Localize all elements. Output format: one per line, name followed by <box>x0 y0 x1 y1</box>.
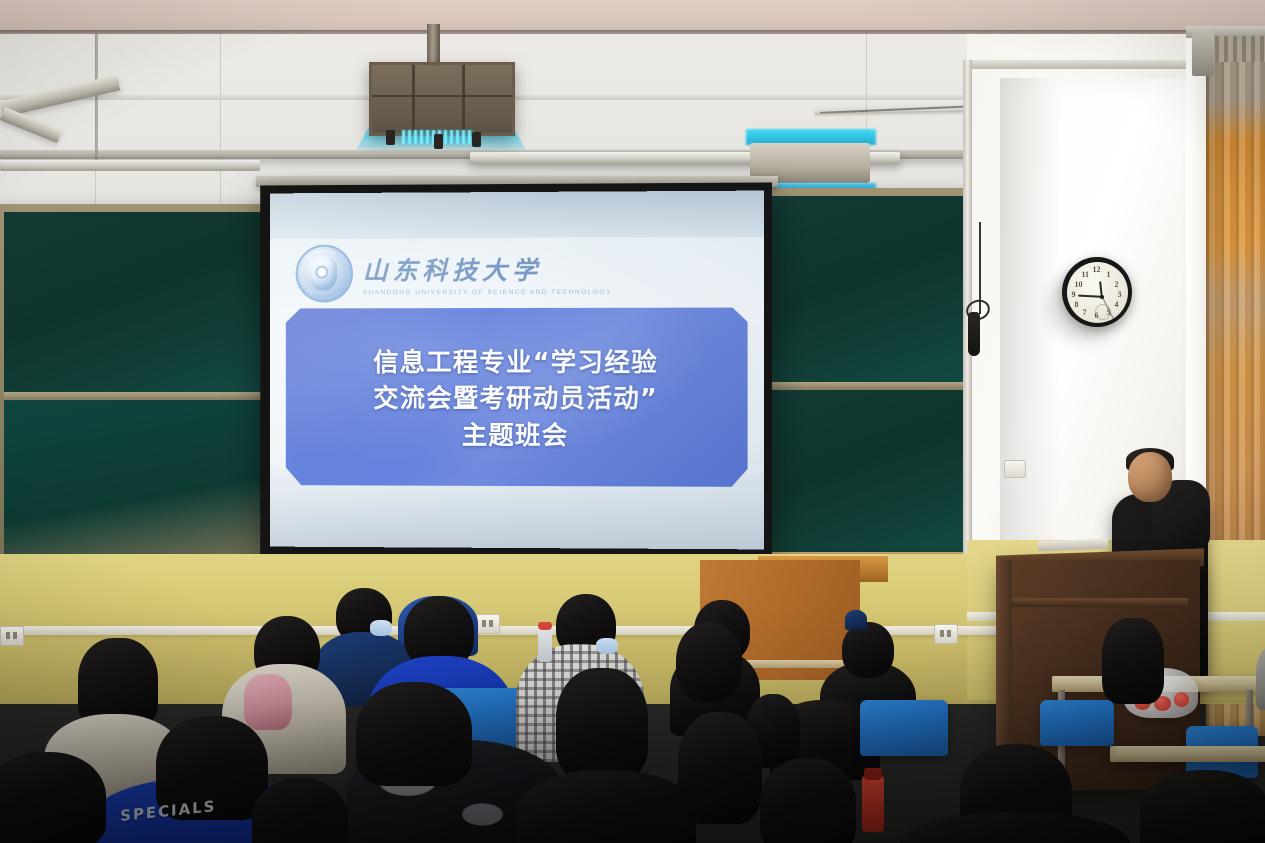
hanging-microphone[interactable] <box>968 312 980 356</box>
student-head <box>252 778 348 843</box>
cage-bar <box>412 65 415 133</box>
student-desk <box>1110 746 1265 762</box>
ceiling <box>0 0 1265 34</box>
blackboard-divider <box>4 392 274 399</box>
blackboard-right-upper-panel[interactable] <box>766 196 964 384</box>
student-head <box>556 668 648 780</box>
student-collar <box>845 610 867 630</box>
clock-numeral: 12 <box>1093 266 1101 274</box>
blackboard-divider <box>766 382 964 389</box>
projector-foot <box>434 134 443 149</box>
cage-bar <box>372 95 512 97</box>
projector-ceiling-mount <box>427 24 440 66</box>
student-head <box>1102 618 1164 704</box>
cage-bar <box>462 65 465 133</box>
institution-name-cn: 山东科技大学 <box>363 250 612 287</box>
student-head <box>676 622 742 702</box>
classroom-chair[interactable] <box>1040 700 1114 746</box>
face-mask <box>596 638 618 654</box>
clock-numeral: 3 <box>1118 291 1122 299</box>
lectern-shelf <box>1012 598 1188 607</box>
student-head <box>760 758 856 843</box>
fluorescent-tube-light <box>0 160 260 171</box>
wall-clock: 12 1 2 3 4 5 6 7 8 9 10 11 <box>1062 257 1132 327</box>
wall-power-outlet[interactable] <box>934 624 958 644</box>
student-head <box>356 682 472 786</box>
projection-screen: 山东科技大学 SHANDONG UNIVERSITY OF SCIENCE AN… <box>270 191 764 550</box>
blackboard-left-upper-panel[interactable] <box>4 212 274 394</box>
logo-arc-decoration <box>294 243 354 303</box>
student-head <box>842 622 894 678</box>
student-head <box>0 752 106 843</box>
university-crest-logo <box>296 245 353 303</box>
projector-foot <box>386 130 395 145</box>
student-head <box>678 712 762 824</box>
slide-institution-texts: 山东科技大学 SHANDONG UNIVERSITY OF SCIENCE AN… <box>363 250 612 296</box>
blackboard-left-lower-panel[interactable] <box>4 400 274 558</box>
slide-title-block: 信息工程专业“学习经验 交流会暨考研动员活动” 主题班会 <box>286 314 748 487</box>
door-header <box>963 60 1202 69</box>
slide-title-line-2: 交流会暨考研动员活动” <box>373 387 658 413</box>
clock-minute-hand <box>1077 295 1101 298</box>
clock-center-pin <box>1100 295 1104 299</box>
clock-numeral: 11 <box>1082 271 1090 279</box>
bottle-cap <box>864 768 882 780</box>
projector-security-cage <box>369 62 515 136</box>
wall-light-switch[interactable] <box>1004 460 1026 478</box>
slide-logo-row: 山东科技大学 SHANDONG UNIVERSITY OF SCIENCE AN… <box>296 241 736 304</box>
classroom-scene: 山东科技大学 SHANDONG UNIVERSITY OF SCIENCE AN… <box>0 0 1265 843</box>
wall-power-outlet[interactable] <box>0 626 24 646</box>
wall-power-outlet[interactable] <box>476 614 500 634</box>
clock-numeral: 10 <box>1075 281 1083 289</box>
clock-face: 12 1 2 3 4 5 6 7 8 9 10 11 <box>1067 262 1128 323</box>
presenter-head <box>1128 452 1172 502</box>
clock-numeral: 2 <box>1115 281 1119 289</box>
student-scarf <box>244 674 292 730</box>
clear-water-bottle[interactable] <box>538 626 552 662</box>
curtain-bracket <box>1192 30 1214 76</box>
student-torso <box>900 812 1130 843</box>
projector-foot <box>472 132 481 147</box>
bottle-cap <box>538 622 552 630</box>
student-torso <box>1140 770 1265 843</box>
clock-numeral: 9 <box>1072 291 1076 299</box>
clock-numeral: 1 <box>1107 271 1111 279</box>
blackboard-right-lower-panel[interactable] <box>766 390 964 558</box>
clock-numeral: 4 <box>1115 301 1119 309</box>
face-mask <box>370 620 392 636</box>
red-water-bottle[interactable] <box>862 776 884 832</box>
institution-name-en: SHANDONG UNIVERSITY OF SCIENCE AND TECHN… <box>363 288 612 296</box>
slide-title-line-1: 信息工程专业“学习经验 <box>373 351 658 377</box>
curtain-header-pleats <box>1206 36 1265 62</box>
slide-title-line-3: 主题班会 <box>462 424 569 450</box>
clock-numeral: 7 <box>1083 309 1087 317</box>
student-torso <box>516 770 696 843</box>
slide-bottom-band <box>270 485 764 549</box>
clock-numeral: 8 <box>1075 301 1079 309</box>
red-item-in-bag <box>1174 692 1189 707</box>
slide-top-band <box>270 191 764 239</box>
classroom-chair[interactable] <box>860 700 948 756</box>
